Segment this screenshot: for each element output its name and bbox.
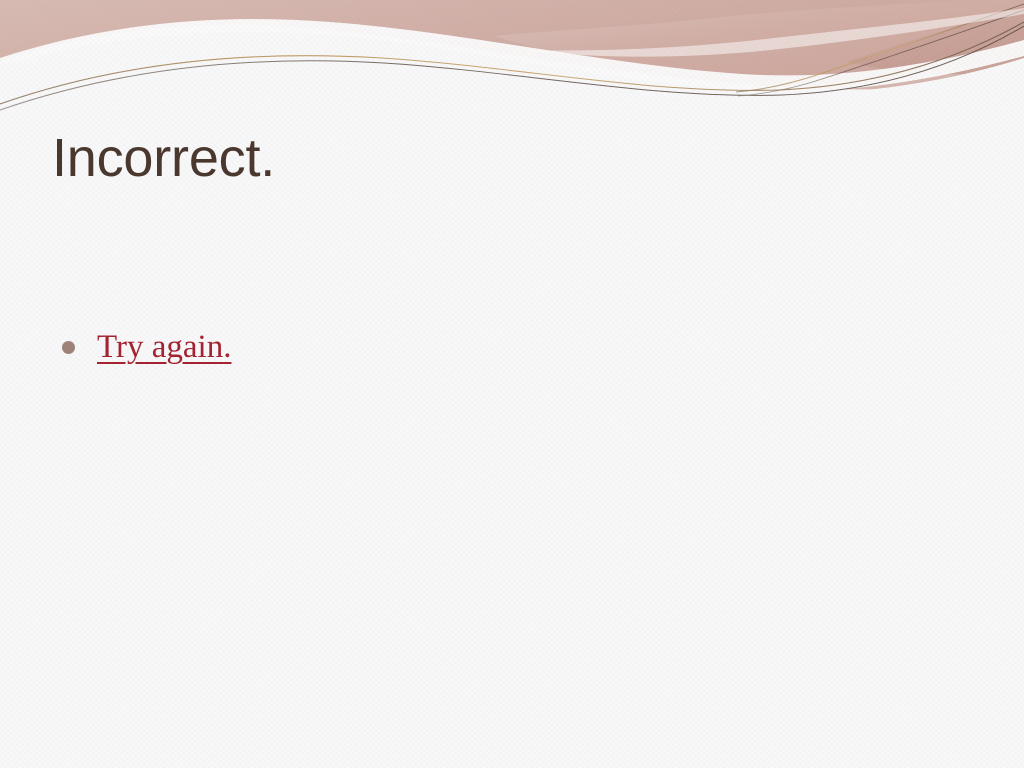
list-item-text: Try again. bbox=[97, 326, 231, 368]
try-again-link[interactable]: Try again. bbox=[97, 329, 231, 365]
content-placeholder: Try again. bbox=[52, 326, 952, 382]
page-title: Incorrect. bbox=[52, 126, 952, 190]
header-wave-decoration bbox=[0, 0, 1024, 130]
presentation-slide: Incorrect. Try again. bbox=[0, 0, 1024, 768]
list-item: Try again. bbox=[52, 326, 952, 368]
title-placeholder: Incorrect. bbox=[52, 126, 952, 190]
filled-circle-bullet-icon bbox=[62, 341, 75, 354]
